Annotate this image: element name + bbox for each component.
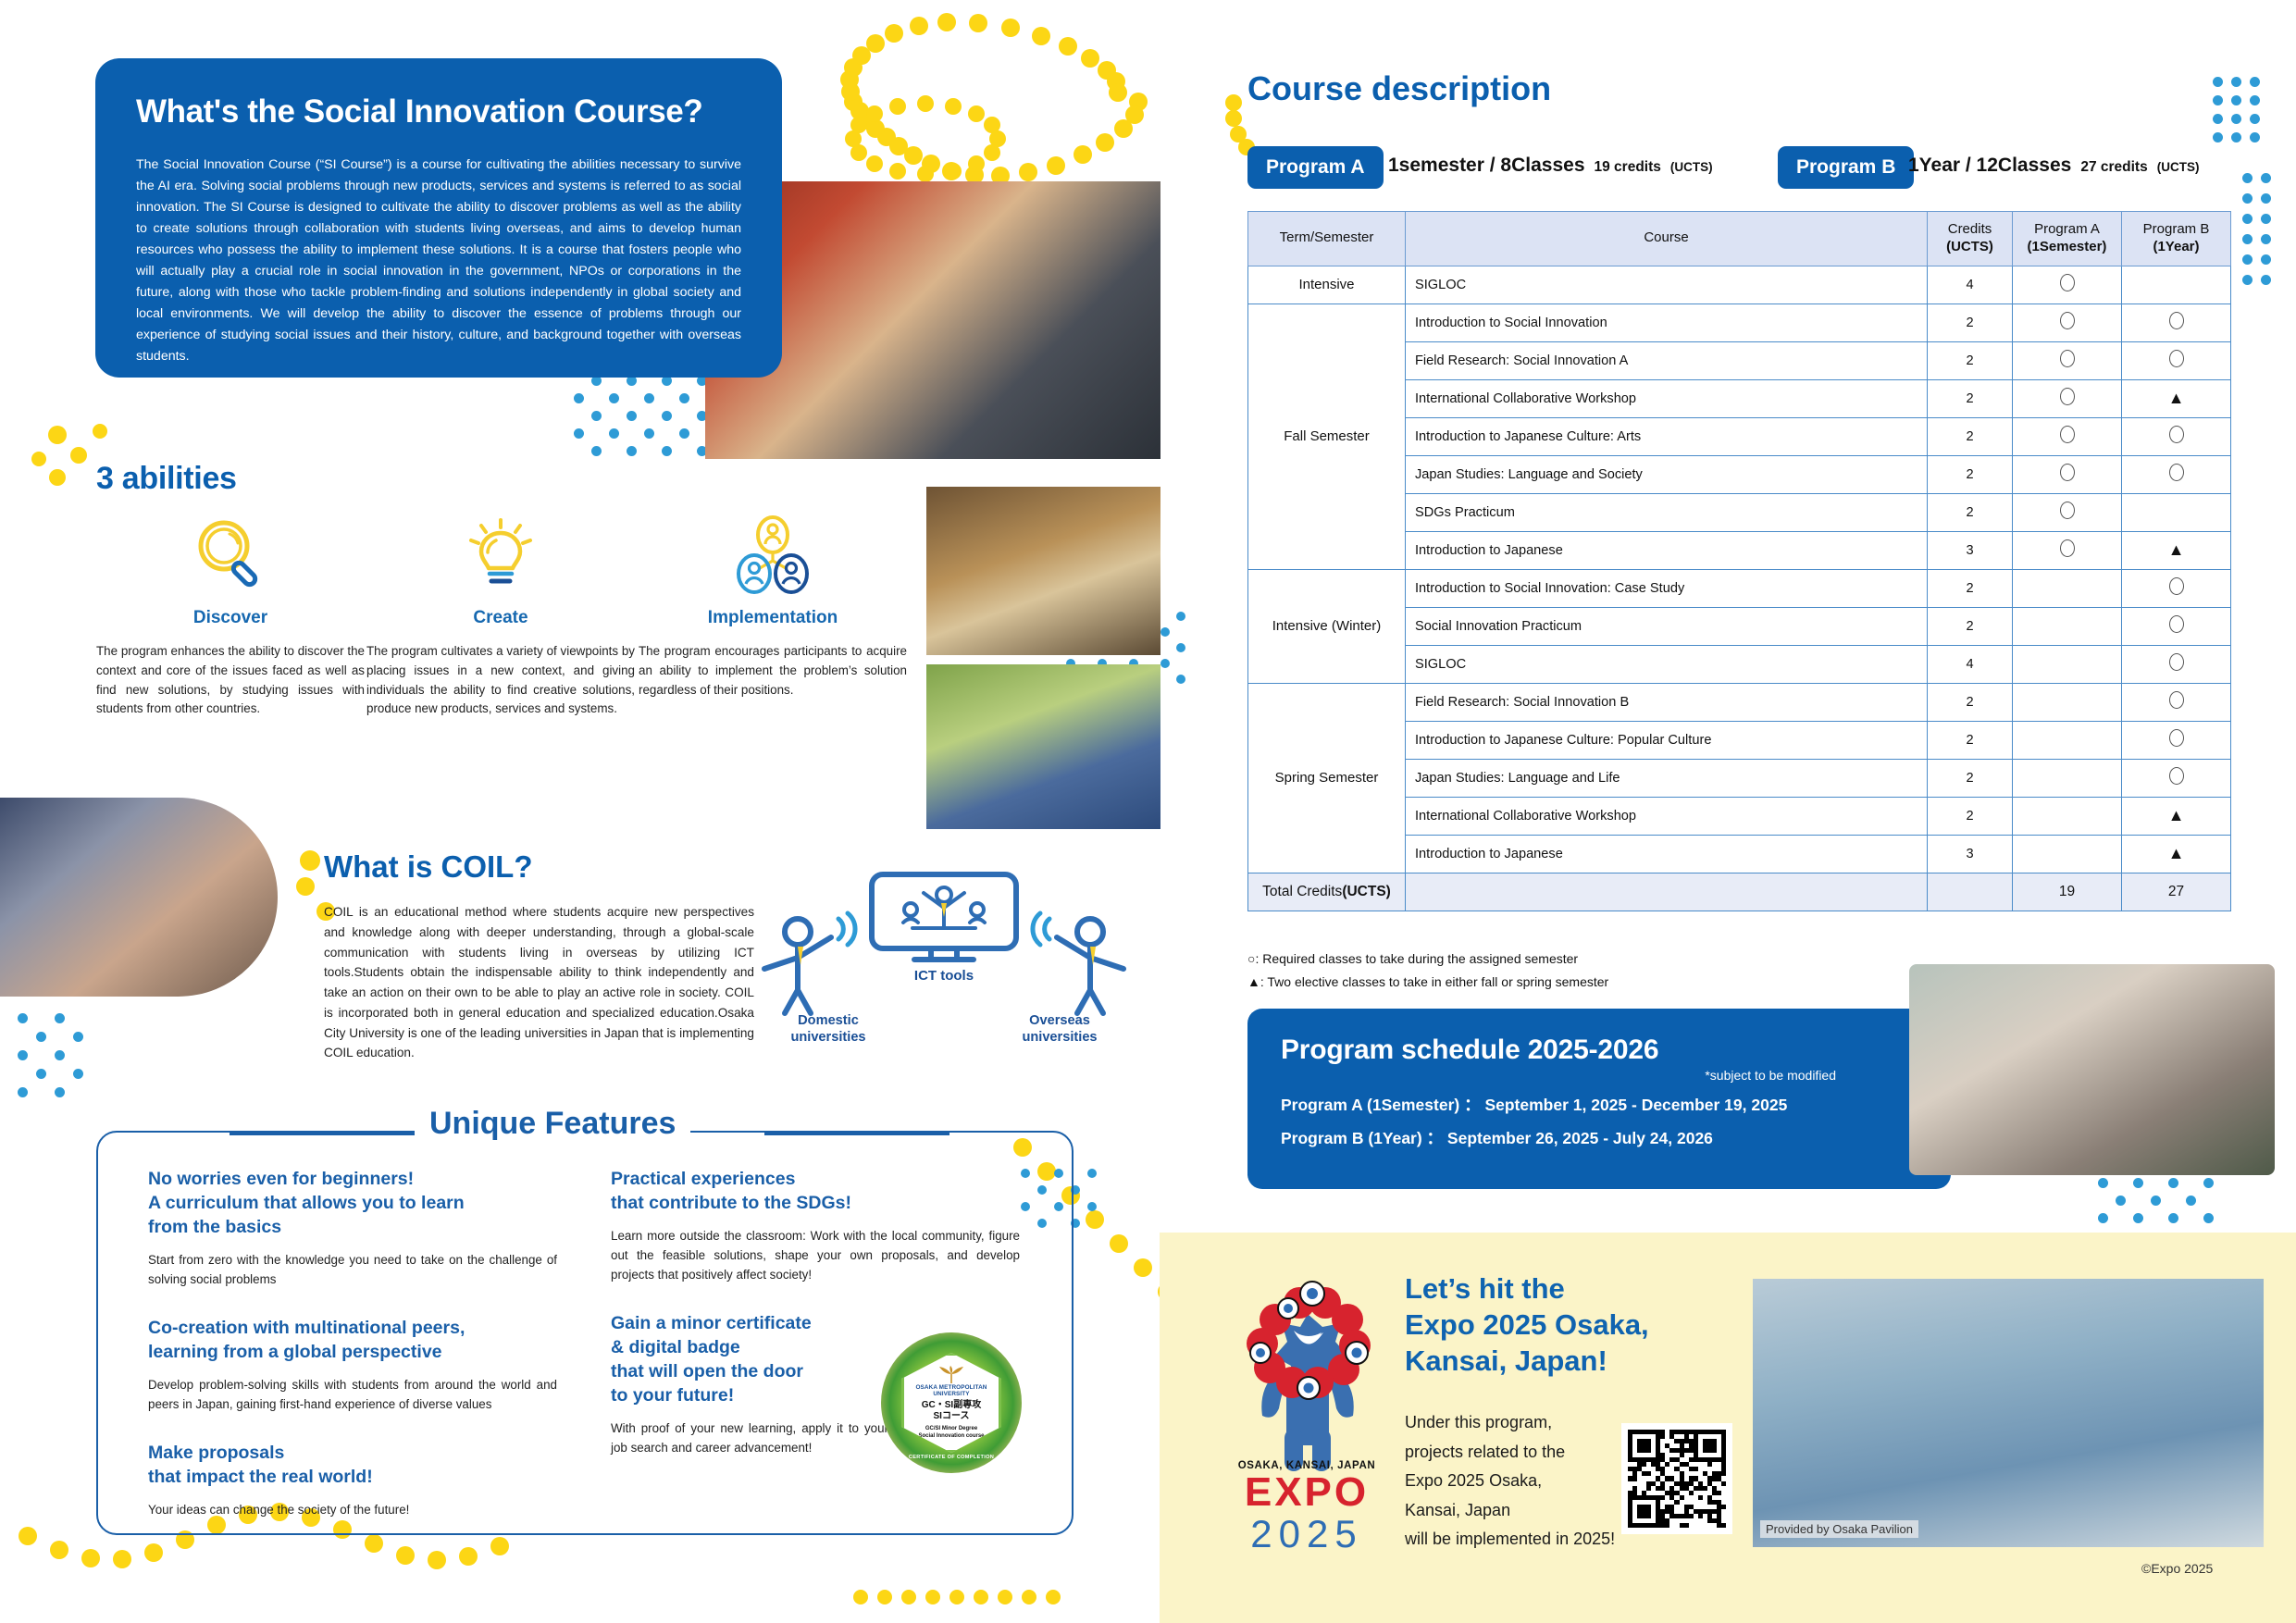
decorative-dot xyxy=(2242,214,2253,224)
required-circle-icon xyxy=(2169,691,2184,709)
table-cell-program-a xyxy=(2013,721,2122,759)
decorative-dot xyxy=(48,426,67,444)
table-cell-credits: 2 xyxy=(1928,721,2013,759)
total-credits-label: Total Credits(UCTS) xyxy=(1248,873,1406,911)
decorative-dot xyxy=(50,1541,68,1559)
table-row: Spring SemesterField Research: Social In… xyxy=(1248,683,2231,721)
coil-body: COIL is an educational method where stud… xyxy=(324,902,754,1063)
decorative-dot xyxy=(1160,627,1170,637)
program-a-unit: (UCTS) xyxy=(1670,160,1713,174)
decorative-dot xyxy=(73,1069,83,1079)
lightbulb-icon xyxy=(366,512,635,597)
table-cell-course: Social Innovation Practicum xyxy=(1406,607,1928,645)
decorative-dot xyxy=(2133,1213,2143,1223)
decorative-dot xyxy=(31,452,46,466)
decorative-dot xyxy=(1225,94,1242,111)
required-circle-icon xyxy=(2060,539,2075,557)
total-program-a: 19 xyxy=(2013,873,2122,911)
abilities-title: 3 abilities xyxy=(96,461,237,497)
decorative-dot xyxy=(18,1050,28,1060)
table-cell-term: Intensive (Winter) xyxy=(1248,569,1406,683)
decorative-dot xyxy=(917,166,934,182)
decorative-dot xyxy=(866,105,883,122)
decorative-dot xyxy=(1086,1210,1104,1229)
table-cell-program-a xyxy=(2013,304,2122,341)
table-header-cell: Credits(UCTS) xyxy=(1928,212,2013,266)
decorative-dot xyxy=(81,1549,100,1567)
decorative-dot xyxy=(2261,234,2271,244)
decorative-dot xyxy=(627,446,637,456)
program-b-duration: 1Year / 12Classes xyxy=(1908,155,2071,177)
decorative-dot xyxy=(2231,95,2241,105)
table-cell-credits: 3 xyxy=(1928,835,2013,873)
decorative-dot xyxy=(2250,95,2260,105)
table-cell-credits: 2 xyxy=(1928,455,2013,493)
table-cell-program-b xyxy=(2122,759,2231,797)
decorative-dot xyxy=(19,1527,37,1545)
decorative-dot xyxy=(18,1013,28,1023)
table-header-cell: Course xyxy=(1406,212,1928,266)
table-row: IntensiveSIGLOC4 xyxy=(1248,266,2231,304)
table-cell-credits: 2 xyxy=(1928,379,2013,417)
decorative-dot xyxy=(2261,275,2271,285)
table-cell-program-b xyxy=(2122,645,2231,683)
decorative-dot xyxy=(974,1590,988,1604)
feature-text: With proof of your new learning, apply i… xyxy=(611,1419,888,1457)
required-circle-icon xyxy=(2060,274,2075,291)
decorative-dot xyxy=(1046,1590,1061,1604)
decorative-dot xyxy=(296,877,315,896)
decorative-dot xyxy=(644,393,654,403)
decorative-dot xyxy=(2116,1196,2126,1206)
expo-logo-year: 2025 xyxy=(1214,1514,1399,1555)
decorative-dot xyxy=(1176,675,1185,684)
decorative-dot xyxy=(2098,1213,2108,1223)
feature-text: Learn more outside the classroom: Work w… xyxy=(611,1226,1020,1285)
decorative-dot xyxy=(574,428,584,439)
required-circle-icon xyxy=(2169,729,2184,747)
ability-card-discover: Discover The program enhances the abilit… xyxy=(96,512,365,719)
poster-page: What's the Social Innovation Course? The… xyxy=(0,0,2296,1623)
required-circle-icon xyxy=(2169,653,2184,671)
program-a-meta: 1semester / 8Classes 19 credits (UCTS) xyxy=(1388,155,1713,177)
table-cell-credits: 2 xyxy=(1928,569,2013,607)
expo-headline-block: Let’s hit theExpo 2025 Osaka,Kansai, Jap… xyxy=(1405,1270,1775,1379)
table-cell-credits: 3 xyxy=(1928,531,2013,569)
table-header-cell: Program A(1Semester) xyxy=(2013,212,2122,266)
table-cell-course: Japan Studies: Language and Life xyxy=(1406,759,1928,797)
badge-university: OSAKA METROPOLITAN UNIVERSITY xyxy=(904,1384,999,1397)
decorative-dot xyxy=(2261,214,2271,224)
table-cell-program-b xyxy=(2122,607,2231,645)
total-spacer xyxy=(1406,873,1928,911)
elective-triangle-icon: ▲ xyxy=(2168,390,2185,406)
feature-text: Your ideas can change the society of the… xyxy=(148,1500,557,1519)
table-cell-credits: 2 xyxy=(1928,341,2013,379)
pavilion-photo xyxy=(1753,1279,2264,1547)
students-photo xyxy=(0,798,278,997)
decorative-dot xyxy=(55,1087,65,1097)
feature-heading: Co-creation with multinational peers,lea… xyxy=(148,1317,557,1365)
table-cell-course: Introduction to Japanese xyxy=(1406,531,1928,569)
table-cell-credits: 2 xyxy=(1928,493,2013,531)
decorative-dot xyxy=(866,34,885,53)
table-cell-course: Field Research: Social Innovation B xyxy=(1406,683,1928,721)
decorative-dot xyxy=(1032,27,1050,45)
table-row: Fall SemesterIntroduction to Social Inno… xyxy=(1248,304,2231,341)
si-course-card: What's the Social Innovation Course? The… xyxy=(95,58,782,378)
required-circle-icon xyxy=(2169,464,2184,481)
required-circle-icon xyxy=(2060,350,2075,367)
decorative-dot xyxy=(1160,659,1170,668)
decorative-dot xyxy=(901,1590,916,1604)
decorative-dot xyxy=(55,1013,65,1023)
temple-photo xyxy=(926,487,1160,655)
required-circle-icon xyxy=(2169,615,2184,633)
schedule-program-a: Program A (1Semester) ： September 1, 202… xyxy=(1281,1093,1917,1116)
decorative-dot xyxy=(459,1547,478,1566)
decorative-dot xyxy=(945,98,962,115)
decorative-dot xyxy=(945,163,962,180)
program-b-unit: (UCTS) xyxy=(2157,160,2200,174)
decorative-dot xyxy=(1047,156,1065,175)
table-cell-program-a xyxy=(2013,607,2122,645)
decorative-dot xyxy=(2242,173,2253,183)
decorative-dot xyxy=(1087,1169,1097,1178)
feature-text: Start from zero with the knowledge you n… xyxy=(148,1250,557,1289)
coil-title: What is COIL? xyxy=(324,849,533,885)
table-cell-program-b: ▲ xyxy=(2122,531,2231,569)
total-spacer xyxy=(1928,873,2013,911)
table-cell-program-b xyxy=(2122,683,2231,721)
ability-name: Create xyxy=(366,608,635,628)
elective-triangle-icon: ▲ xyxy=(2168,807,2185,824)
palm-emblem-icon xyxy=(936,1366,967,1384)
decorative-dot xyxy=(609,428,619,439)
decorative-dot xyxy=(877,1590,892,1604)
expo-mascot-icon xyxy=(1220,1266,1396,1488)
table-row: Intensive (Winter)Introduction to Social… xyxy=(1248,569,2231,607)
decorative-dot xyxy=(1022,1590,1036,1604)
decorative-dot xyxy=(2250,114,2260,124)
decorative-dot xyxy=(889,163,906,180)
decorative-dot xyxy=(2242,275,2253,285)
decorative-dot xyxy=(1087,1202,1097,1211)
decorative-dot xyxy=(574,393,584,403)
decorative-dot xyxy=(1225,110,1242,127)
table-cell-program-b xyxy=(2122,304,2231,341)
table-cell-course: Introduction to Social Innovation xyxy=(1406,304,1928,341)
decorative-dot xyxy=(2231,77,2241,87)
decorative-dot xyxy=(2168,1213,2178,1223)
table-cell-program-a xyxy=(2013,417,2122,455)
program-b-meta: 1Year / 12Classes 27 credits (UCTS) xyxy=(1908,155,2199,177)
decorative-dot xyxy=(2242,254,2253,265)
feature-item: Gain a minor certificate& digital badget… xyxy=(611,1312,888,1457)
course-description-title: Course description xyxy=(1247,69,1551,108)
decorative-dot xyxy=(2213,132,2223,142)
unique-features-column-left: No worries even for beginners!A curricul… xyxy=(148,1168,557,1547)
decorative-dot xyxy=(2261,193,2271,204)
decorative-dot xyxy=(609,393,619,403)
schedule-title: Program schedule 2025-2026 xyxy=(1281,1035,1917,1066)
table-cell-course: Introduction to Japanese Culture: Popula… xyxy=(1406,721,1928,759)
table-cell-course: International Collaborative Workshop xyxy=(1406,379,1928,417)
course-table: Term/SemesterCourseCredits(UCTS)Program … xyxy=(1247,211,2231,911)
decorative-dot xyxy=(1176,643,1185,652)
ability-name: Implementation xyxy=(639,608,907,628)
table-cell-credits: 2 xyxy=(1928,797,2013,835)
table-cell-credits: 2 xyxy=(1928,304,2013,341)
decorative-dot xyxy=(49,469,66,486)
table-cell-course: Introduction to Social Innovation: Case … xyxy=(1406,569,1928,607)
decorative-dot xyxy=(2261,173,2271,183)
unique-features-rule-right xyxy=(764,1133,949,1135)
table-cell-course: SDGs Practicum xyxy=(1406,493,1928,531)
decorative-dot xyxy=(949,1590,964,1604)
expo-logo: OSAKA, KANSAI, JAPAN EXPO 2025 xyxy=(1214,1460,1399,1555)
feature-item: Practical experiencesthat contribute to … xyxy=(611,1168,1020,1284)
required-circle-icon xyxy=(2169,350,2184,367)
table-cell-program-b xyxy=(2122,341,2231,379)
table-cell-program-a xyxy=(2013,835,2122,873)
decorative-dot xyxy=(2213,114,2223,124)
elective-triangle-icon: ▲ xyxy=(2168,541,2185,558)
decorative-dot xyxy=(925,1590,940,1604)
decorative-dot xyxy=(679,428,689,439)
program-a-chip: Program A xyxy=(1247,146,1384,189)
table-cell-term: Spring Semester xyxy=(1248,683,1406,873)
table-cell-course: Introduction to Japanese Culture: Arts xyxy=(1406,417,1928,455)
decorative-dot xyxy=(866,155,883,172)
table-total-row: Total Credits(UCTS)1927 xyxy=(1248,873,2231,911)
total-program-b: 27 xyxy=(2122,873,2231,911)
decorative-dot xyxy=(1230,126,1247,142)
table-header-cell: Program B(1Year) xyxy=(2122,212,2231,266)
unique-features-title: Unique Features xyxy=(415,1106,690,1142)
feature-item: Co-creation with multinational peers,lea… xyxy=(148,1317,557,1414)
table-cell-program-a xyxy=(2013,759,2122,797)
badge-japanese: GC・SI副専攻SIコース xyxy=(922,1400,981,1422)
decorative-dot xyxy=(889,98,906,115)
decorative-dot xyxy=(885,24,903,43)
table-cell-credits: 2 xyxy=(1928,759,2013,797)
decorative-dot xyxy=(1019,163,1037,181)
feature-heading: Make proposalsthat impact the real world… xyxy=(148,1442,557,1490)
decorative-dot xyxy=(1074,145,1092,164)
feature-text: Develop problem-solving skills with stud… xyxy=(148,1375,557,1414)
coil-overseas-label: Overseasuniversities xyxy=(990,1013,1129,1046)
decorative-dot xyxy=(36,1032,46,1042)
decorative-dot xyxy=(662,411,672,421)
decorative-dot xyxy=(968,155,985,172)
table-cell-program-a xyxy=(2013,493,2122,531)
decorative-dot xyxy=(1114,119,1133,138)
feature-heading: No worries even for beginners!A curricul… xyxy=(148,1168,557,1240)
decorative-dot xyxy=(853,1590,868,1604)
decorative-dot xyxy=(396,1546,415,1565)
ability-text: The program enhances the ability to disc… xyxy=(96,642,365,719)
table-cell-course: SIGLOC xyxy=(1406,645,1928,683)
magnifier-icon xyxy=(96,512,365,597)
table-cell-credits: 2 xyxy=(1928,683,2013,721)
coil-ict-label: ICT tools xyxy=(870,968,1018,984)
decorative-dot xyxy=(2203,1213,2214,1223)
decorative-dot xyxy=(1110,1234,1128,1253)
table-cell-program-b: ▲ xyxy=(2122,379,2231,417)
schedule-photo xyxy=(1909,964,2275,1175)
decorative-dot xyxy=(2213,77,2223,87)
table-cell-program-a xyxy=(2013,645,2122,683)
ability-name: Discover xyxy=(96,608,365,628)
table-cell-program-b xyxy=(2122,266,2231,304)
schedule-program-b: Program B (1Year) ： September 26, 2025 -… xyxy=(1281,1126,1917,1149)
decorative-dot xyxy=(2261,254,2271,265)
decorative-dot xyxy=(1059,37,1077,56)
si-course-title: What's the Social Innovation Course? xyxy=(136,93,741,130)
decorative-dot xyxy=(2242,234,2253,244)
table-cell-program-a xyxy=(2013,531,2122,569)
program-b-chip: Program B xyxy=(1778,146,1914,189)
decorative-dot xyxy=(18,1087,28,1097)
table-cell-program-b: ▲ xyxy=(2122,797,2231,835)
table-header-row: Term/SemesterCourseCredits(UCTS)Program … xyxy=(1248,212,2231,266)
decorative-dot xyxy=(70,447,87,464)
table-cell-program-b: ▲ xyxy=(2122,835,2231,873)
table-cell-program-b xyxy=(2122,417,2231,455)
decorative-dot xyxy=(1109,83,1127,102)
qr-code[interactable] xyxy=(1621,1423,1732,1534)
feature-heading: Practical experiencesthat contribute to … xyxy=(611,1168,1020,1216)
table-cell-course: Japan Studies: Language and Society xyxy=(1406,455,1928,493)
legend-triangle: ▲: Two elective classes to take in eithe… xyxy=(1247,974,1608,989)
table-cell-course: Introduction to Japanese xyxy=(1406,835,1928,873)
required-circle-icon xyxy=(2169,767,2184,785)
decorative-dot xyxy=(984,144,1000,161)
table-cell-course: Field Research: Social Innovation A xyxy=(1406,341,1928,379)
elective-triangle-icon: ▲ xyxy=(2168,845,2185,861)
table-cell-program-a xyxy=(2013,569,2122,607)
decorative-dot xyxy=(1176,612,1185,621)
required-circle-icon xyxy=(2060,426,2075,443)
decorative-dot xyxy=(2231,132,2241,142)
feature-heading: Gain a minor certificate& digital badget… xyxy=(611,1312,888,1408)
program-schedule-box: Program schedule 2025-2026 *subject to b… xyxy=(1247,1009,1951,1189)
table-cell-course: SIGLOC xyxy=(1406,266,1928,304)
table-cell-term: Fall Semester xyxy=(1248,304,1406,569)
unique-features-rule-left xyxy=(230,1133,415,1135)
table-cell-program-a xyxy=(2013,266,2122,304)
table-cell-credits: 2 xyxy=(1928,607,2013,645)
program-a-duration: 1semester / 8Classes xyxy=(1388,155,1585,177)
decorative-dot xyxy=(93,424,107,439)
ability-text: The program encourages participants to a… xyxy=(639,642,907,700)
decorative-dot xyxy=(2250,132,2260,142)
decorative-dot xyxy=(1081,49,1099,68)
decorative-dot xyxy=(55,1050,65,1060)
table-cell-program-a xyxy=(2013,683,2122,721)
decorative-dot xyxy=(591,411,602,421)
decorative-dot xyxy=(917,95,934,112)
table-cell-program-a xyxy=(2013,455,2122,493)
decorative-dot xyxy=(2231,114,2241,124)
decorative-dot xyxy=(428,1551,446,1569)
decorative-dot xyxy=(2242,193,2253,204)
table-cell-program-b xyxy=(2122,569,2231,607)
decorative-dot xyxy=(2168,1178,2178,1188)
decorative-dot xyxy=(627,411,637,421)
expo-body: Under this program,projects related to t… xyxy=(1405,1408,1655,1555)
decorative-dot xyxy=(73,1032,83,1042)
decorative-dot xyxy=(2151,1196,2161,1206)
decorative-dot xyxy=(300,850,320,871)
required-circle-icon xyxy=(2169,577,2184,595)
decorative-dot xyxy=(113,1550,131,1568)
fieldwork-photo xyxy=(926,664,1160,829)
coil-domestic-label: Domesticuniversities xyxy=(759,1013,898,1046)
table-cell-credits: 4 xyxy=(1928,266,2013,304)
legend-circle: ○: Required classes to take during the a… xyxy=(1247,951,1578,966)
expo-credit: ©Expo 2025 xyxy=(2141,1561,2213,1576)
decorative-dot xyxy=(1096,133,1114,152)
table-cell-credits: 4 xyxy=(1928,645,2013,683)
decorative-dot xyxy=(2250,77,2260,87)
decorative-dot xyxy=(850,117,867,133)
required-circle-icon xyxy=(2060,502,2075,519)
decorative-dot xyxy=(910,17,928,35)
decorative-dot xyxy=(679,393,689,403)
expo-logo-word: EXPO xyxy=(1214,1471,1399,1514)
badge-subtitle: GC/SI Minor DegreeSocial Innovation cour… xyxy=(918,1426,984,1440)
ability-text: The program cultivates a variety of view… xyxy=(366,642,635,719)
required-circle-icon xyxy=(2060,388,2075,405)
feature-item: Make proposalsthat impact the real world… xyxy=(148,1442,557,1519)
certificate-badge: OSAKA METROPOLITAN UNIVERSITY GC・SI副専攻SI… xyxy=(881,1332,1022,1473)
pavilion-caption: Provided by Osaka Pavilion xyxy=(1760,1520,1918,1538)
decorative-dot xyxy=(2186,1196,2196,1206)
decorative-dot xyxy=(968,105,985,122)
decorative-dot xyxy=(998,1590,1012,1604)
decorative-dot xyxy=(36,1069,46,1079)
decorative-dot xyxy=(2133,1178,2143,1188)
table-cell-program-b xyxy=(2122,455,2231,493)
required-circle-icon xyxy=(2060,464,2075,481)
ability-card-create: Create The program cultivates a variety … xyxy=(366,512,635,719)
table-cell-program-a xyxy=(2013,379,2122,417)
decorative-dot xyxy=(2098,1178,2108,1188)
program-a-credits: 19 credits xyxy=(1595,159,1661,176)
table-header-cell: Term/Semester xyxy=(1248,212,1406,266)
schedule-note: *subject to be modified xyxy=(1281,1068,1836,1083)
table-cell-program-b xyxy=(2122,493,2231,531)
si-course-body: The Social Innovation Course (“SI Course… xyxy=(136,155,741,367)
table-body: IntensiveSIGLOC4Fall SemesterIntroductio… xyxy=(1248,266,2231,911)
expo-headline: Let’s hit theExpo 2025 Osaka,Kansai, Jap… xyxy=(1405,1270,1775,1379)
decorative-dot xyxy=(2203,1178,2214,1188)
decorative-dot xyxy=(644,428,654,439)
decorative-dot xyxy=(1134,1258,1152,1277)
required-circle-icon xyxy=(2060,312,2075,329)
required-circle-icon xyxy=(2169,426,2184,443)
required-circle-icon xyxy=(2169,312,2184,329)
feature-item: No worries even for beginners!A curricul… xyxy=(148,1168,557,1289)
decorative-dot xyxy=(662,446,672,456)
table-cell-program-a xyxy=(2013,797,2122,835)
table-cell-program-b xyxy=(2122,721,2231,759)
decorative-dot xyxy=(2213,95,2223,105)
decorative-dot xyxy=(937,13,956,31)
program-b-credits: 27 credits xyxy=(2080,159,2147,176)
